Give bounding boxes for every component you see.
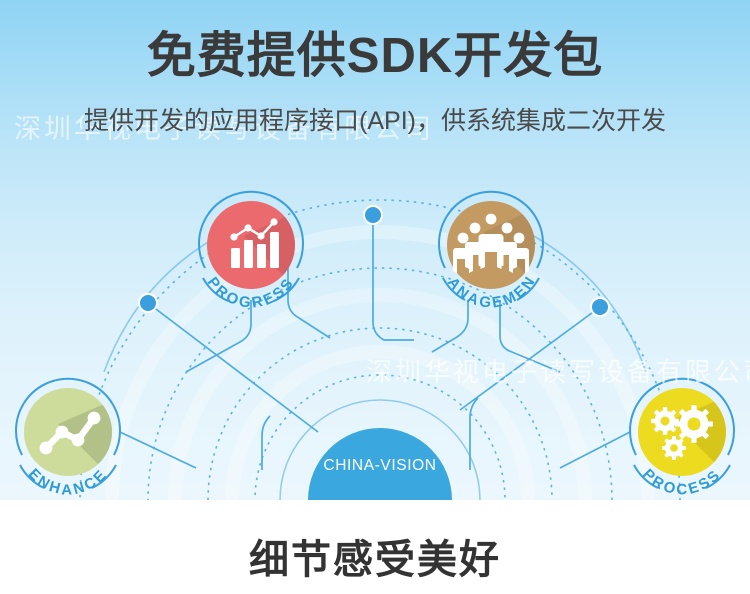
feature-circle-progress[interactable]: PROGRESS: [199, 192, 303, 312]
hub-circle[interactable]: CHINA-VISION: [308, 428, 452, 500]
hub-label: CHINA-VISION: [323, 457, 436, 474]
bottom-tagline: 细节感受美好: [0, 527, 750, 585]
feature-circle-process[interactable]: PROCESS: [630, 379, 734, 499]
feature-circle-enhance[interactable]: ENHANCE: [16, 379, 120, 499]
sdk-promo-banner: CHINA-VISION: [0, 0, 750, 594]
node-left[interactable]: [139, 294, 157, 312]
subheadline: 提供开发的应用程序接口(API)，供系统集成二次开发: [0, 106, 750, 136]
headline: 免费提供SDK开发包: [0, 29, 750, 84]
node-top[interactable]: [364, 206, 382, 224]
node-right[interactable]: [591, 298, 609, 316]
sky-gradient-panel: CHINA-VISION: [0, 0, 750, 500]
